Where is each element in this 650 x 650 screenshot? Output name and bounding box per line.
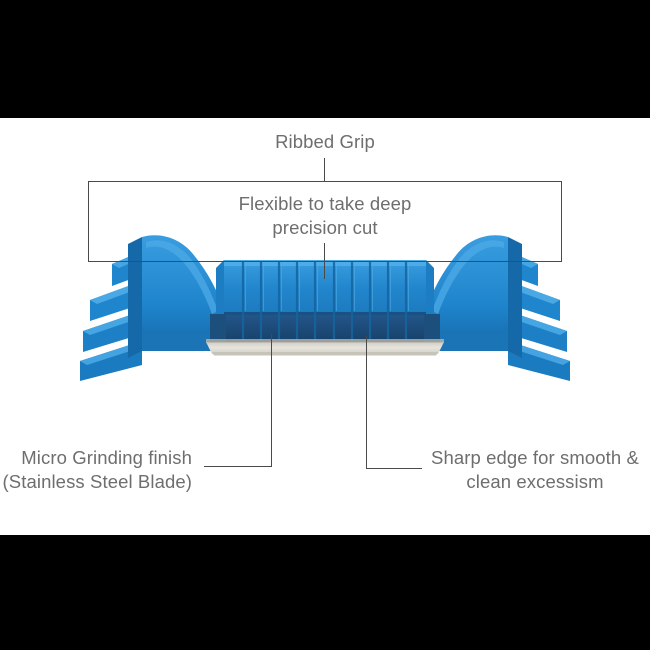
letterbox-bar-bottom xyxy=(0,535,650,650)
stainless-steel-blade xyxy=(206,339,444,356)
callout-label-sharp-edge: Sharp edge for smooth & clean excessism xyxy=(424,446,646,494)
ribbed-grip-leader-line xyxy=(324,158,325,182)
sharp-edge-leader-vertical xyxy=(366,336,367,469)
callout-micro-line2: (Stainless Steel Blade) xyxy=(0,470,192,494)
callout-sharp-line1: Sharp edge for smooth & xyxy=(424,446,646,470)
callout-micro-line1: Micro Grinding finish xyxy=(0,446,192,470)
letterbox-bar-top xyxy=(0,0,650,118)
callout-label-ribbed-grip: Ribbed Grip xyxy=(0,130,650,154)
illustration-stage: Ribbed Grip Flexible to take deep precis… xyxy=(0,0,650,650)
callout-label-flexible: Flexible to take deep precision cut xyxy=(0,192,650,240)
sharp-edge-leader-horizontal xyxy=(366,468,422,469)
callout-flexible-line2: precision cut xyxy=(0,216,650,240)
callout-sharp-line2: clean excessism xyxy=(424,470,646,494)
flexible-leader-line xyxy=(324,243,325,279)
callout-label-micro-grinding: Micro Grinding finish (Stainless Steel B… xyxy=(0,446,192,494)
callout-flexible-line1: Flexible to take deep xyxy=(0,192,650,216)
micro-grinding-leader-vertical xyxy=(271,334,272,467)
micro-grinding-leader-horizontal xyxy=(204,466,272,467)
